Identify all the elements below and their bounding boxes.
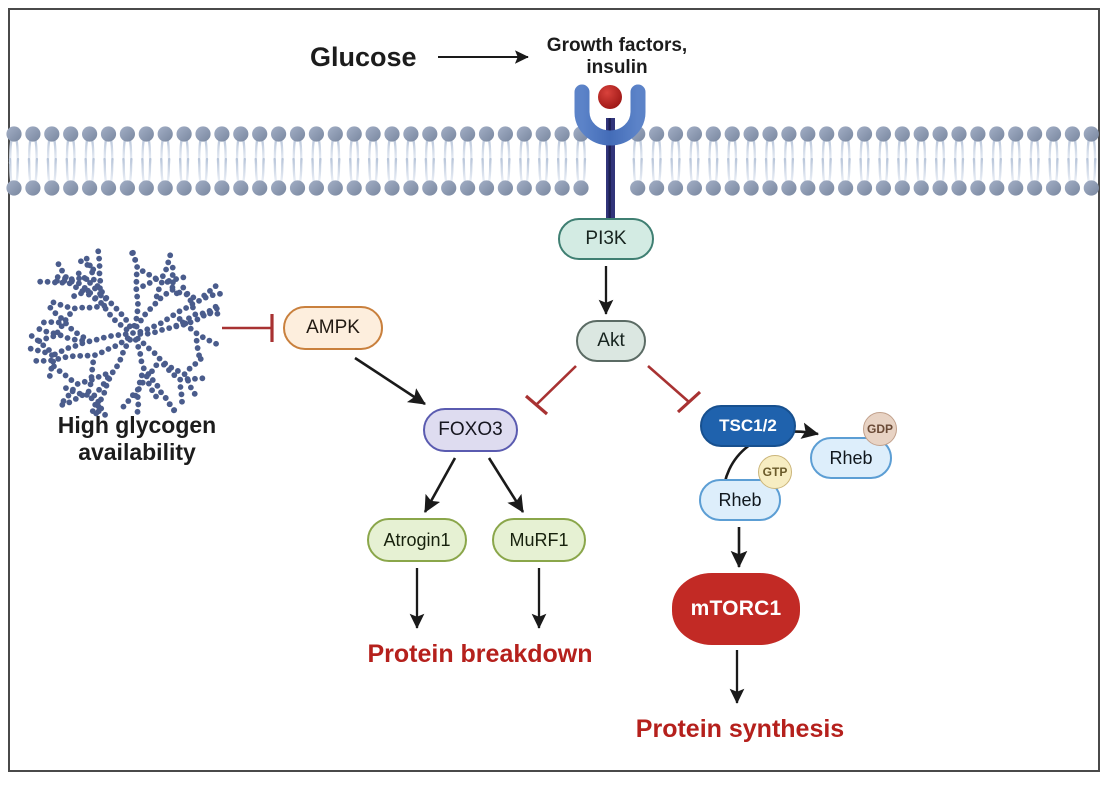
edge-glycogen-inhibits-ampk <box>222 314 272 342</box>
node-mtorc1[interactable]: mTORC1 <box>672 573 800 645</box>
node-ampk[interactable]: AMPK <box>283 306 383 350</box>
label-protein-synthesis: Protein synthesis <box>585 715 895 745</box>
label-high-glycogen-availability: High glycogen availability <box>22 412 252 466</box>
node-pi3k[interactable]: PI3K <box>558 218 654 260</box>
ligand-ball-icon <box>598 85 622 109</box>
glycogen-granule-icon <box>28 248 223 417</box>
node-murf1[interactable]: MuRF1 <box>492 518 586 562</box>
label-protein-breakdown: Protein breakdown <box>330 640 630 670</box>
node-akt[interactable]: Akt <box>576 320 646 362</box>
edge-akt-inhibits-foxo3 <box>526 366 576 414</box>
label-glucose: Glucose <box>310 42 417 74</box>
node-tsc1-2[interactable]: TSC1/2 <box>700 405 796 447</box>
badge-gdp: GDP <box>863 412 897 446</box>
edge-foxo3-to-murf1 <box>489 458 523 512</box>
diagram-canvas: Glucose Growth factors, insulin High gly… <box>0 0 1115 785</box>
node-foxo3[interactable]: FOXO3 <box>423 408 518 452</box>
badge-gtp: GTP <box>758 455 792 489</box>
edge-akt-inhibits-tsc <box>648 366 700 412</box>
label-growth-factors: Growth factors, insulin <box>537 35 697 80</box>
edge-ampk-to-foxo3 <box>355 358 425 404</box>
lipid-bilayer-icon <box>6 126 1099 195</box>
node-atrogin1[interactable]: Atrogin1 <box>367 518 467 562</box>
edge-foxo3-to-atrogin1 <box>425 458 455 512</box>
